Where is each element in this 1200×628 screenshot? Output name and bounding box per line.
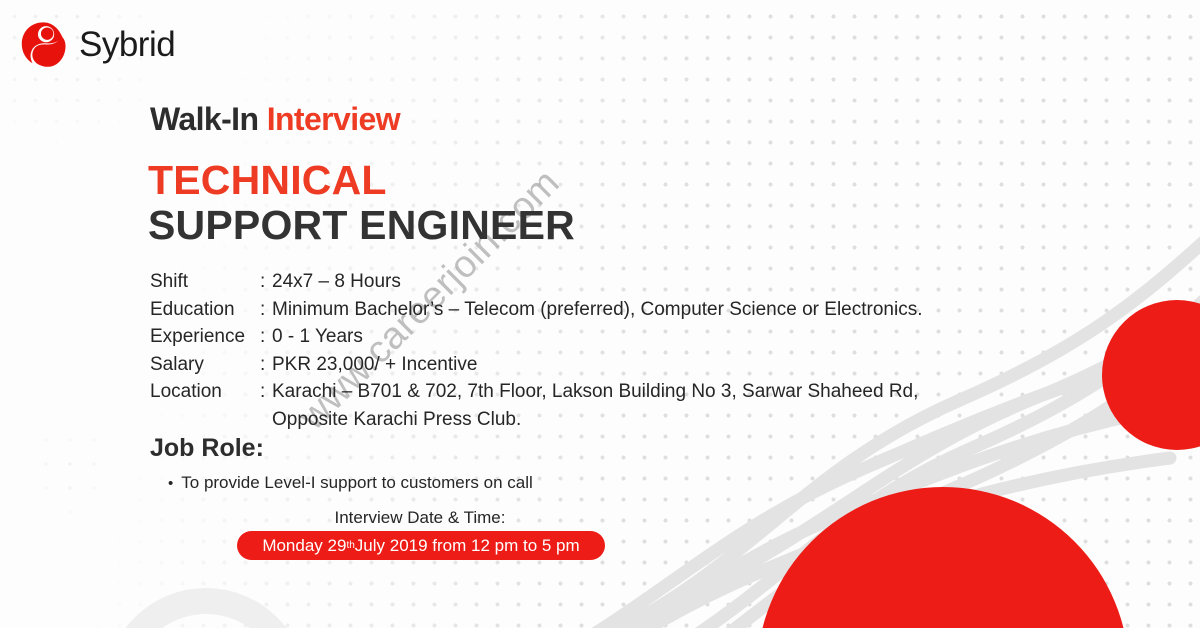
detail-row-location: Location : Karachi – B701 & 702, 7th Flo… [150,378,922,406]
detail-value: Minimum Bachelor’s – Telecom (preferred)… [272,296,922,324]
detail-separator: : [260,323,272,351]
interview-day: Monday 29 [262,536,346,556]
eyebrow-plain: Walk-In [150,101,267,137]
detail-value: 24x7 – 8 Hours [272,268,401,296]
detail-value: Karachi – B701 & 702, 7th Floor, Lakson … [272,378,918,406]
interview-ordinal: th [346,540,354,551]
detail-row-shift: Shift : 24x7 – 8 Hours [150,268,922,296]
brand-logo: Sybrid [18,18,175,72]
page-title: TECHNICAL SUPPORT ENGINEER [148,160,575,245]
brand-name: Sybrid [79,25,175,65]
detail-label: Experience [150,323,260,351]
title-line-1: TECHNICAL [148,160,575,201]
detail-label: Location [150,378,260,406]
sybrid-swoosh-icon [18,18,72,72]
interview-rest: July 2019 from 12 pm to 5 pm [355,536,580,556]
detail-separator: : [260,296,272,324]
detail-value: 0 - 1 Years [272,323,363,351]
detail-label: Shift [150,268,260,296]
job-role-list: • To provide Level-I support to customer… [168,470,533,496]
detail-value: PKR 23,000/ + Incentive [272,351,477,379]
detail-row-education: Education : Minimum Bachelor’s – Telecom… [150,296,922,324]
title-line-2: SUPPORT ENGINEER [148,205,575,246]
detail-row-experience: Experience : 0 - 1 Years [150,323,922,351]
detail-label: Education [150,296,260,324]
detail-separator: : [260,268,272,296]
details-list: Shift : 24x7 – 8 Hours Education : Minim… [150,268,922,433]
interview-datetime-label: Interview Date & Time: [148,508,692,528]
detail-row-salary: Salary : PKR 23,000/ + Incentive [150,351,922,379]
detail-separator: : [260,351,272,379]
job-role-item-text: To provide Level-I support to customers … [181,470,533,496]
detail-value-continuation: Opposite Karachi Press Club. [150,406,922,434]
interview-datetime-badge: Monday 29th July 2019 from 12 pm to 5 pm [237,531,605,560]
job-role-item: • To provide Level-I support to customer… [168,470,533,496]
detail-separator: : [260,378,272,406]
job-role-heading: Job Role: [150,434,264,463]
eyebrow-heading: Walk-In Interview [150,101,400,138]
job-poster: www.careerjoin.com Sybrid Walk-In Interv… [0,0,1200,628]
eyebrow-accent: Interview [267,101,400,137]
detail-label: Salary [150,351,260,379]
bullet-icon: • [168,473,173,496]
